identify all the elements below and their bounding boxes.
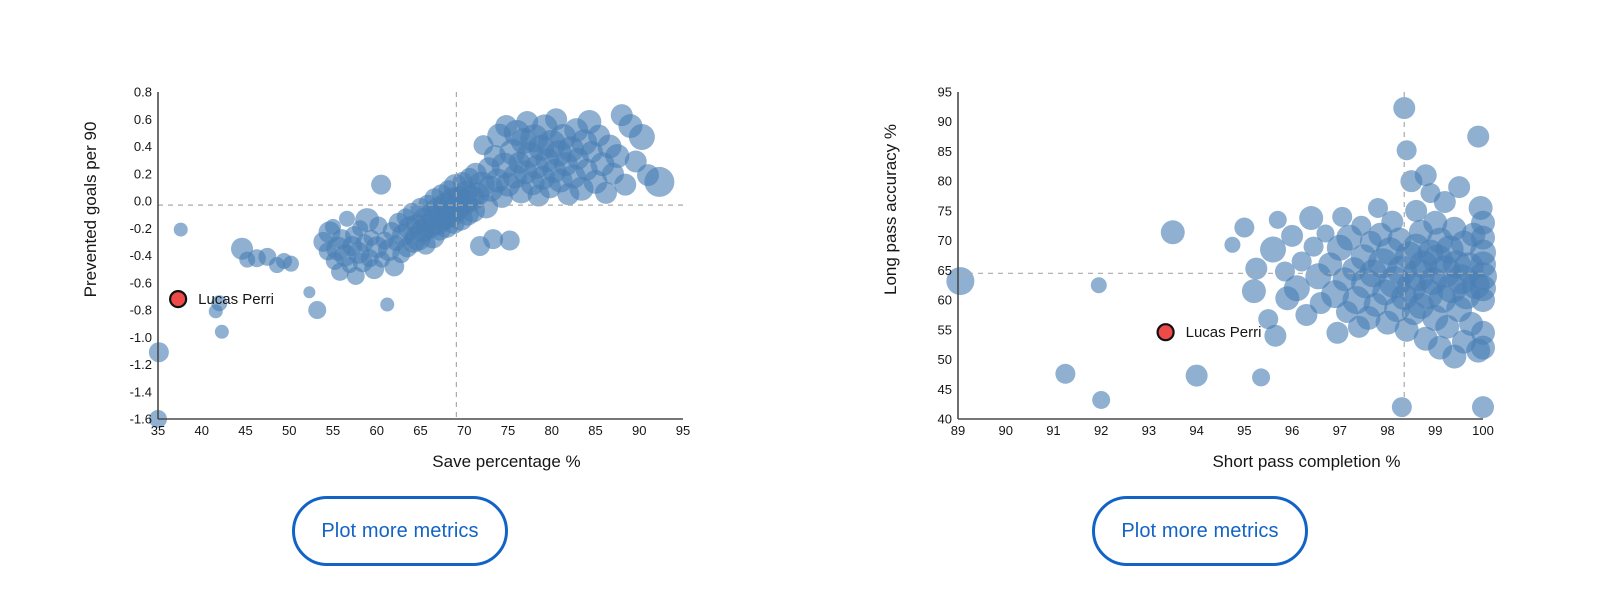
bubble-series-right: [946, 97, 1497, 418]
y-tick-label: -1.4: [130, 384, 152, 399]
data-bubble: [1299, 206, 1323, 230]
bubble-series-left: [149, 104, 675, 428]
y-tick-label: 85: [938, 144, 952, 159]
short-pass-panel: 8990919293949596979899100 95908580757065…: [800, 0, 1600, 611]
x-tick-label: 97: [1333, 423, 1347, 438]
scatter-plot-right[interactable]: 8990919293949596979899100 95908580757065…: [800, 0, 1600, 480]
data-bubble: [1186, 365, 1208, 387]
x-tick-label: 80: [545, 423, 559, 438]
data-bubble: [283, 256, 299, 272]
highlight-label: Lucas Perri: [1186, 324, 1262, 341]
y-tick-label: -0.2: [130, 221, 152, 236]
data-bubble: [308, 301, 326, 319]
scatter-dashboard: 35404550556065707580859095 0.80.60.40.20…: [0, 0, 1600, 611]
x-tick-label: 94: [1189, 423, 1203, 438]
x-tick-label: 91: [1046, 423, 1060, 438]
y-tick-label: 0.6: [134, 112, 152, 127]
x-tick-label: 95: [676, 423, 690, 438]
data-bubble: [1245, 258, 1267, 280]
x-tick-label: 90: [632, 423, 646, 438]
data-bubble: [595, 182, 617, 204]
data-bubble: [1092, 391, 1110, 409]
data-bubble: [500, 231, 520, 251]
y-axis-title-left: Prevented goals per 90: [81, 122, 100, 298]
x-tick-label: 45: [238, 423, 252, 438]
data-bubble: [1281, 225, 1303, 247]
y-tick-label: 0.2: [134, 166, 152, 181]
data-bubble: [1252, 368, 1270, 386]
x-tick-label: 35: [151, 423, 165, 438]
data-bubble: [303, 286, 315, 298]
x-tick-label: 65: [413, 423, 427, 438]
y-tick-label: 65: [938, 263, 952, 278]
y-tick-label: 0.8: [134, 85, 152, 100]
x-tick-label: 95: [1237, 423, 1251, 438]
highlight-dot[interactable]: [170, 291, 186, 307]
data-bubble: [1472, 396, 1494, 418]
data-bubble: [380, 298, 394, 312]
data-bubble: [644, 167, 674, 197]
x-tick-label: 90: [998, 423, 1012, 438]
panel-container: 35404550556065707580859095 0.80.60.40.20…: [0, 0, 1600, 611]
y-tick-label: -0.8: [130, 303, 152, 318]
y-tick-label: 80: [938, 174, 952, 189]
x-tick-label: 55: [326, 423, 340, 438]
y-tick-label: 55: [938, 322, 952, 337]
save-percentage-panel: 35404550556065707580859095 0.80.60.40.20…: [0, 0, 800, 611]
short-pass-chart: 8990919293949596979899100 95908580757065…: [800, 0, 1600, 480]
plot-more-metrics-button-left[interactable]: Plot more metrics: [292, 496, 507, 566]
x-tick-label: 85: [588, 423, 602, 438]
data-bubble: [1055, 364, 1075, 384]
x-tick-label: 70: [457, 423, 471, 438]
scatter-plot-left[interactable]: 35404550556065707580859095 0.80.60.40.20…: [0, 0, 800, 480]
data-bubble: [1242, 279, 1266, 303]
y-tick-label: -1.2: [130, 357, 152, 372]
data-bubble: [174, 223, 188, 237]
data-bubble: [1471, 336, 1495, 360]
y-tick-label: 50: [938, 352, 952, 367]
y-tick-label: -1.0: [130, 330, 152, 345]
highlight-dot[interactable]: [1158, 324, 1174, 340]
x-tick-label: 40: [195, 423, 209, 438]
y-axis-title-right: Long pass accuracy %: [881, 124, 900, 295]
y-tick-label: -1.6: [130, 412, 152, 427]
y-tick-label: 40: [938, 412, 952, 427]
right-button-row: Plot more metrics: [800, 496, 1600, 566]
plot-area-left: 35404550556065707580859095 0.80.60.40.20…: [130, 85, 691, 439]
data-bubble: [1161, 220, 1185, 244]
y-tick-label: 0.4: [134, 139, 152, 154]
data-bubble: [1224, 237, 1240, 253]
data-bubble: [629, 124, 655, 150]
y-tick-label: 70: [938, 233, 952, 248]
y-tick-label: 45: [938, 382, 952, 397]
data-bubble: [215, 325, 229, 339]
x-tick-labels-left: 35404550556065707580859095: [151, 423, 690, 438]
data-bubble: [1326, 322, 1348, 344]
x-tick-label: 92: [1094, 423, 1108, 438]
x-tick-label: 98: [1380, 423, 1394, 438]
y-tick-label: -0.4: [130, 248, 152, 263]
y-tick-labels-right: 959085807570656055504540: [938, 85, 952, 427]
x-axis-title-left: Save percentage %: [432, 452, 580, 471]
data-bubble: [1405, 200, 1427, 222]
data-bubble: [1392, 397, 1412, 417]
y-tick-label: 95: [938, 85, 952, 100]
left-button-row: Plot more metrics: [0, 496, 800, 566]
x-tick-label: 93: [1142, 423, 1156, 438]
highlight-label: Lucas Perri: [198, 291, 274, 308]
save-percentage-chart: 35404550556065707580859095 0.80.60.40.20…: [0, 0, 800, 480]
x-axis-title-right: Short pass completion %: [1212, 452, 1400, 471]
data-bubble: [1467, 126, 1489, 148]
x-tick-label: 75: [501, 423, 515, 438]
y-tick-labels-left: 0.80.60.40.20.0-0.2-0.4-0.6-0.8-1.0-1.2-…: [130, 85, 152, 427]
highlight-marker-right[interactable]: Lucas Perri: [1158, 324, 1262, 341]
plot-more-metrics-button-right[interactable]: Plot more metrics: [1092, 496, 1307, 566]
data-bubble: [1091, 277, 1107, 293]
data-bubble: [1397, 140, 1417, 160]
data-bubble: [1471, 288, 1495, 312]
data-bubble: [371, 175, 391, 195]
data-bubble: [1415, 164, 1437, 186]
data-bubble: [614, 174, 636, 196]
x-tick-label: 100: [1472, 423, 1494, 438]
plot-area-right: 8990919293949596979899100 95908580757065…: [938, 85, 1497, 439]
x-tick-label: 60: [370, 423, 384, 438]
x-tick-label: 50: [282, 423, 296, 438]
data-bubble: [1448, 176, 1470, 198]
y-tick-label: 90: [938, 114, 952, 129]
y-tick-label: 60: [938, 293, 952, 308]
data-bubble: [1234, 218, 1254, 238]
y-tick-label: -0.6: [130, 275, 152, 290]
y-tick-label: 75: [938, 203, 952, 218]
data-bubble: [339, 211, 355, 227]
x-tick-label: 99: [1428, 423, 1442, 438]
highlight-marker-left[interactable]: Lucas Perri: [170, 291, 274, 308]
x-tick-label: 96: [1285, 423, 1299, 438]
x-tick-labels-right: 8990919293949596979899100: [951, 423, 1494, 438]
x-tick-label: 89: [951, 423, 965, 438]
data-bubble: [1264, 325, 1286, 347]
y-tick-label: 0.0: [134, 194, 152, 209]
data-bubble: [1269, 211, 1287, 229]
data-bubble: [1332, 207, 1352, 227]
